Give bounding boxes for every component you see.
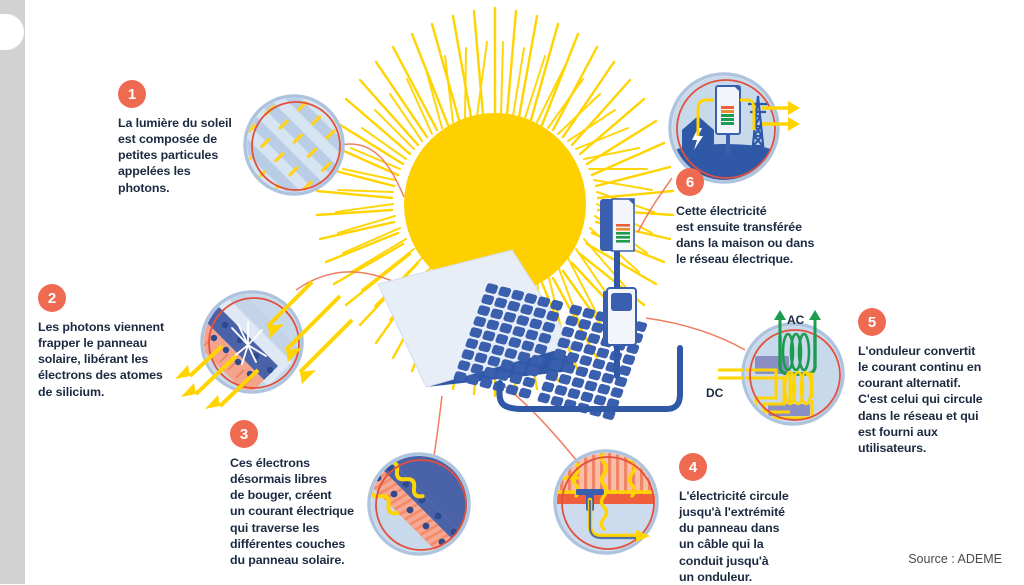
infographic-canvas: 1 La lumière du soleil est composée de p… (0, 0, 1024, 584)
step-2-badge: 2 (38, 284, 66, 312)
dc-label: DC (706, 386, 723, 400)
ac-label: AC (787, 313, 804, 327)
step-1-badge: 1 (118, 80, 146, 108)
step-4: 4 L'électricité circule jusqu'à l'extrém… (679, 453, 814, 585)
inverter-circle-illustration (718, 310, 843, 424)
photons-circle-illustration (245, 96, 343, 194)
step-4-badge: 4 (679, 453, 707, 481)
step-1: 1 La lumière du soleil est composée de p… (118, 80, 248, 196)
source-attribution: Source : ADEME (908, 552, 1002, 566)
step-5-badge: 5 (858, 308, 886, 336)
step-6-badge: 6 (676, 168, 704, 196)
step-3-badge: 3 (230, 420, 258, 448)
step-3: 3 Ces électrons désormais libres de boug… (230, 420, 380, 568)
house-grid-circle-illustration (670, 74, 800, 182)
junction-box-lower (603, 288, 636, 345)
step-6: 6 Cette électricité est ensuite transfér… (676, 168, 836, 268)
step-4-text: L'électricité circule jusqu'à l'extrémit… (679, 488, 814, 585)
cable-exit-circle-illustration (555, 451, 668, 554)
step-2: 2 Les photons viennent frapper le pannea… (38, 284, 188, 400)
step-1-text: La lumière du soleil est composée de pet… (118, 115, 248, 196)
step-5-text: L'onduleur convertit le courant continu … (858, 343, 1008, 456)
step-5: 5 L'onduleur convertit le courant contin… (858, 308, 1008, 456)
step-6-text: Cette électricité est ensuite transférée… (676, 203, 836, 268)
step-2-text: Les photons viennent frapper le panneau … (38, 319, 188, 400)
junction-box-upper (600, 199, 634, 251)
photon-impact-circle-illustration (175, 282, 352, 409)
step-3-text: Ces électrons désormais libres de bouger… (230, 455, 380, 568)
